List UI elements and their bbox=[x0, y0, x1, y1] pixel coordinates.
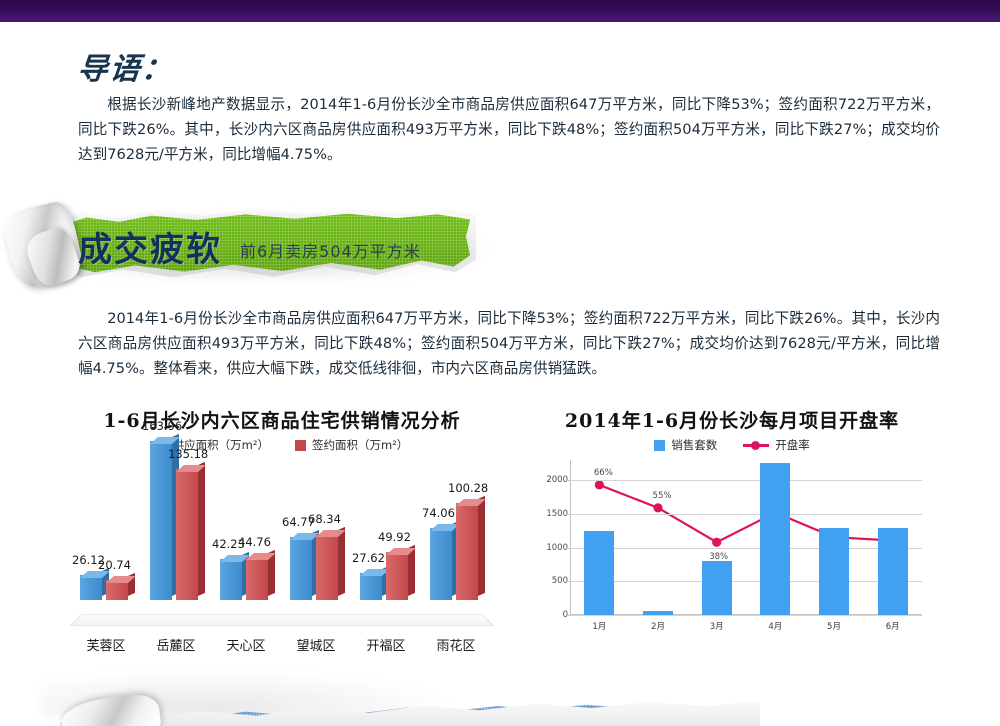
banner-subtitle: 前6月卖房504万平方米 bbox=[240, 238, 421, 262]
x-axis-label: 芙蓉区 bbox=[70, 635, 142, 654]
gridline bbox=[570, 548, 922, 549]
monthly-opening-rate-chart: 05001000150020001月2月3月4月5月6月66%55%38% bbox=[522, 398, 942, 660]
bar-side bbox=[338, 527, 345, 596]
bar-face bbox=[316, 534, 338, 600]
bar-group: 42.2344.76 bbox=[220, 430, 282, 600]
y-tick-mark bbox=[566, 615, 570, 616]
y-tick-mark bbox=[566, 548, 570, 549]
gridline bbox=[570, 581, 922, 582]
x-axis-label: 1月 bbox=[570, 620, 628, 632]
plot-area: 05001000150020001月2月3月4月5月6月66%55%38% bbox=[570, 460, 922, 615]
x-axis-label: 岳麓区 bbox=[140, 635, 212, 654]
bar-supply bbox=[430, 528, 452, 600]
bar-face bbox=[150, 441, 172, 600]
bar-face bbox=[290, 537, 312, 600]
y-tick-mark bbox=[566, 581, 570, 582]
bar-group: 26.1220.74 bbox=[80, 430, 142, 600]
bar-contract bbox=[176, 469, 198, 600]
x-axis-label: 雨花区 bbox=[420, 635, 492, 654]
bar-supply bbox=[290, 537, 312, 600]
x-axis-label: 2月 bbox=[629, 620, 687, 632]
bar-face bbox=[430, 528, 452, 600]
data-point-label: 38% bbox=[709, 552, 728, 562]
bar-contract bbox=[106, 580, 128, 600]
bottom-torn-paper bbox=[0, 664, 1000, 726]
bar-face bbox=[80, 575, 102, 600]
y-tick-label: 1500 bbox=[546, 509, 568, 519]
gridline bbox=[570, 480, 922, 481]
bar-value-label: 49.92 bbox=[378, 530, 411, 544]
bar-contract bbox=[386, 552, 408, 600]
supply-sales-bar-chart: 26.1220.74芙蓉区163.96135.18岳麓区42.2344.76天心… bbox=[62, 398, 502, 660]
bar-contract bbox=[316, 534, 338, 600]
bar-supply bbox=[80, 575, 102, 600]
bar-value-label: 44.76 bbox=[238, 535, 271, 549]
bar-side bbox=[198, 462, 205, 596]
bar-face bbox=[176, 469, 198, 600]
sales-volume-bar bbox=[643, 611, 673, 615]
y-tick-mark bbox=[566, 514, 570, 515]
x-axis-label: 天心区 bbox=[210, 635, 282, 654]
x-axis-label: 开福区 bbox=[350, 635, 422, 654]
gridline bbox=[570, 514, 922, 515]
bar-value-label: 20.74 bbox=[98, 558, 131, 572]
bar-face bbox=[456, 503, 478, 600]
bar-face bbox=[386, 552, 408, 600]
bar-value-label: 74.06 bbox=[422, 506, 455, 520]
y-tick-mark bbox=[566, 480, 570, 481]
bar-value-label: 68.34 bbox=[308, 512, 341, 526]
data-point-marker bbox=[712, 538, 721, 547]
bar-value-label: 135.18 bbox=[168, 447, 208, 461]
sales-volume-bar bbox=[819, 528, 849, 615]
gridline bbox=[570, 615, 922, 616]
x-axis-label: 望城区 bbox=[280, 635, 352, 654]
bar-group: 163.96135.18 bbox=[150, 430, 212, 600]
data-point-label: 55% bbox=[653, 491, 672, 501]
bar-face bbox=[360, 573, 382, 600]
data-point-label: 66% bbox=[594, 468, 613, 478]
bar-side bbox=[478, 495, 485, 596]
x-axis-label: 5月 bbox=[805, 620, 863, 632]
x-axis-label: 4月 bbox=[746, 620, 804, 632]
x-axis-label: 3月 bbox=[688, 620, 746, 632]
x-axis-label: 6月 bbox=[864, 620, 922, 632]
bar-contract bbox=[456, 503, 478, 600]
bar-value-label: 100.28 bbox=[448, 481, 488, 495]
banner-title: 成交疲软 bbox=[78, 222, 222, 271]
bar-group: 27.6249.92 bbox=[360, 430, 422, 600]
sales-volume-bar bbox=[584, 531, 614, 615]
top-purple-bar bbox=[0, 0, 1000, 22]
chart-floor bbox=[70, 614, 494, 626]
bar-supply bbox=[150, 441, 172, 600]
data-point-marker bbox=[653, 503, 662, 512]
bar-contract bbox=[246, 557, 268, 600]
bar-supply bbox=[360, 573, 382, 600]
bar-supply bbox=[220, 559, 242, 600]
bar-face bbox=[246, 557, 268, 600]
intro-paragraph: 根据长沙新峰地产数据显示，2014年1-6月份长沙全市商品房供应面积647万平方… bbox=[78, 92, 940, 167]
bar-face bbox=[220, 559, 242, 600]
bar-group: 74.06100.28 bbox=[430, 430, 492, 600]
sales-volume-bar bbox=[702, 561, 732, 615]
body-paragraph: 2014年1-6月份长沙全市商品房供应面积647万平方米，同比下降53%；签约面… bbox=[78, 306, 940, 381]
y-tick-label: 1000 bbox=[546, 543, 568, 553]
intro-heading: 导语： bbox=[76, 44, 177, 88]
opening-rate-line bbox=[570, 460, 922, 615]
sales-volume-bar bbox=[760, 463, 790, 615]
bar-group: 64.7768.34 bbox=[290, 430, 352, 600]
data-point-marker bbox=[595, 480, 604, 489]
y-tick-label: 2000 bbox=[546, 475, 568, 485]
bar-value-label: 163.96 bbox=[142, 419, 182, 433]
bar-value-label: 27.62 bbox=[352, 551, 385, 565]
sales-volume-bar bbox=[878, 528, 908, 615]
